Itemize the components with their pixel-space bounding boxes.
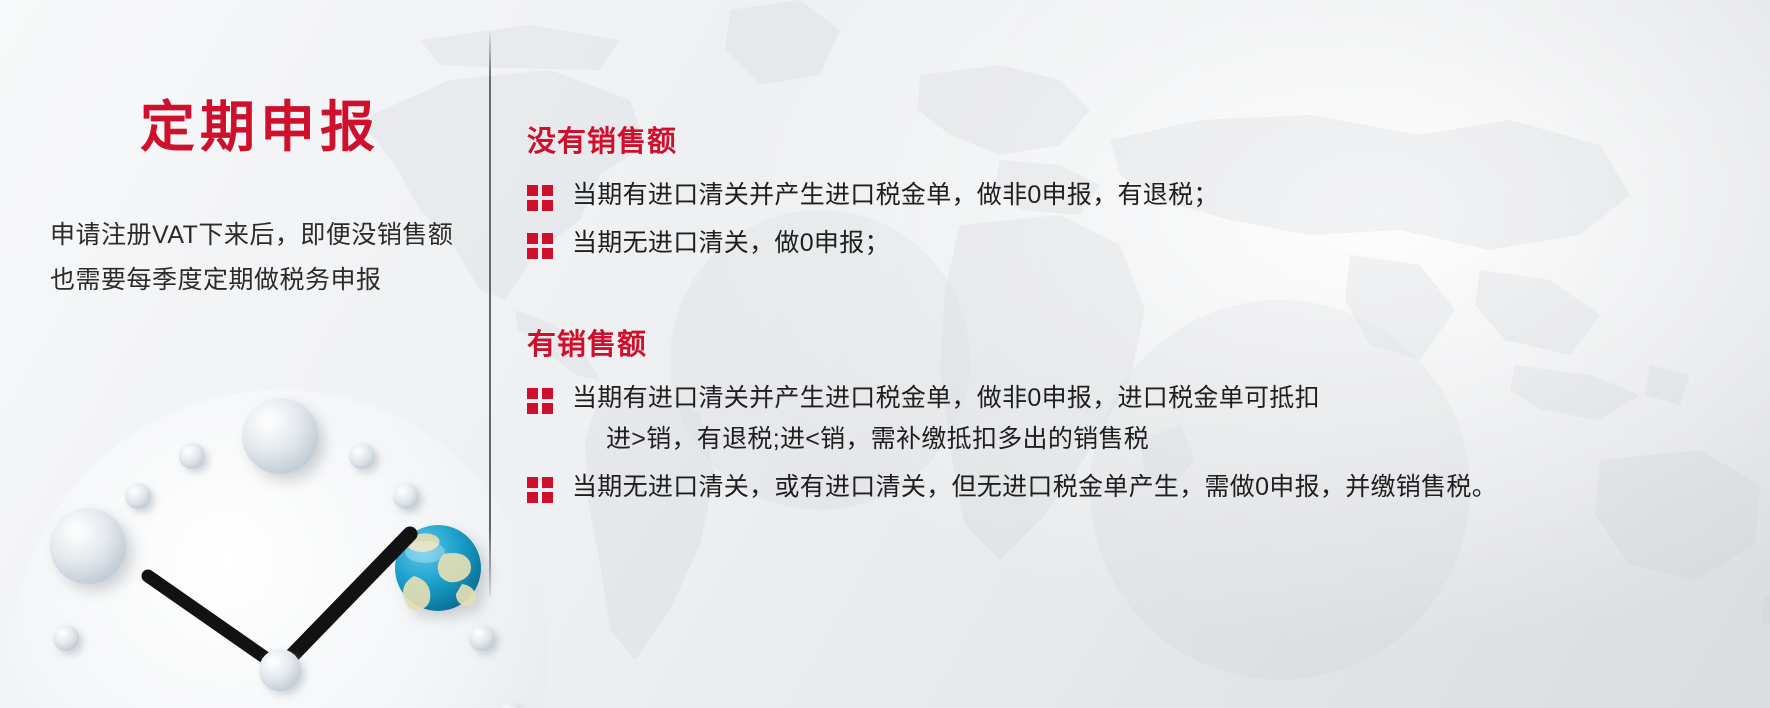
square-grid-bullet-icon <box>527 477 553 503</box>
list-item-body: 当期无进口清关，做0申报； <box>572 226 1742 262</box>
list-item: 当期无进口清关，做0申报； <box>527 226 1742 262</box>
section-heading-no-sales: 没有销售额 <box>527 118 1742 160</box>
list-item: 当期有进口清关并产生进口税金单，做非0申报，有退税； <box>527 178 1742 214</box>
section-heading-has-sales: 有销售额 <box>527 321 1742 363</box>
intro-paragraph: 申请注册VAT下来后，即便没销售额也需要每季度定期做税务申报 <box>50 213 470 302</box>
list-item-text: 当期无进口清关，或有进口清关，但无进口税金单产生，需做0申报，并缴销售税。 <box>572 470 1742 506</box>
list-item-body: 当期无进口清关，或有进口清关，但无进口税金单产生，需做0申报，并缴销售税。 <box>572 470 1742 506</box>
list-item-body: 当期有进口清关并产生进口税金单，做非0申报，进口税金单可抵扣 进>销，有退税;进… <box>572 381 1742 458</box>
right-column: 没有销售额 当期有进口清关并产生进口税金单，做非0申报，有退税； 当期无进口清关… <box>527 118 1742 506</box>
section-no-sales: 没有销售额 当期有进口清关并产生进口税金单，做非0申报，有退税； 当期无进口清关… <box>527 118 1742 261</box>
vertical-divider <box>489 32 491 597</box>
square-grid-bullet-icon <box>527 388 553 414</box>
list-item: 当期有进口清关并产生进口税金单，做非0申报，进口税金单可抵扣 进>销，有退税;进… <box>527 381 1742 458</box>
list-item-text: 当期有进口清关并产生进口税金单，做非0申报，进口税金单可抵扣 <box>572 381 1742 417</box>
list-item-subtext: 进>销，有退税;进<销，需补缴抵扣多出的销售税 <box>606 421 1742 459</box>
page-title: 定期申报 <box>50 96 470 159</box>
square-grid-bullet-icon <box>527 233 553 259</box>
list-item-text: 当期无进口清关，做0申报； <box>572 226 1742 262</box>
globe-icon <box>395 525 481 611</box>
list-item: 当期无进口清关，或有进口清关，但无进口税金单产生，需做0申报，并缴销售税。 <box>527 470 1742 506</box>
section-has-sales: 有销售额 当期有进口清关并产生进口税金单，做非0申报，进口税金单可抵扣 进>销，… <box>527 321 1742 506</box>
slide-canvas: 定期申报 申请注册VAT下来后，即便没销售额也需要每季度定期做税务申报 没有销售… <box>0 0 1770 708</box>
clock-illustration <box>0 338 590 708</box>
list-item-text: 当期有进口清关并产生进口税金单，做非0申报，有退税； <box>572 178 1742 214</box>
left-column: 定期申报 申请注册VAT下来后，即便没销售额也需要每季度定期做税务申报 <box>50 96 470 302</box>
square-grid-bullet-icon <box>527 185 553 211</box>
list-item-body: 当期有进口清关并产生进口税金单，做非0申报，有退税； <box>572 178 1742 214</box>
